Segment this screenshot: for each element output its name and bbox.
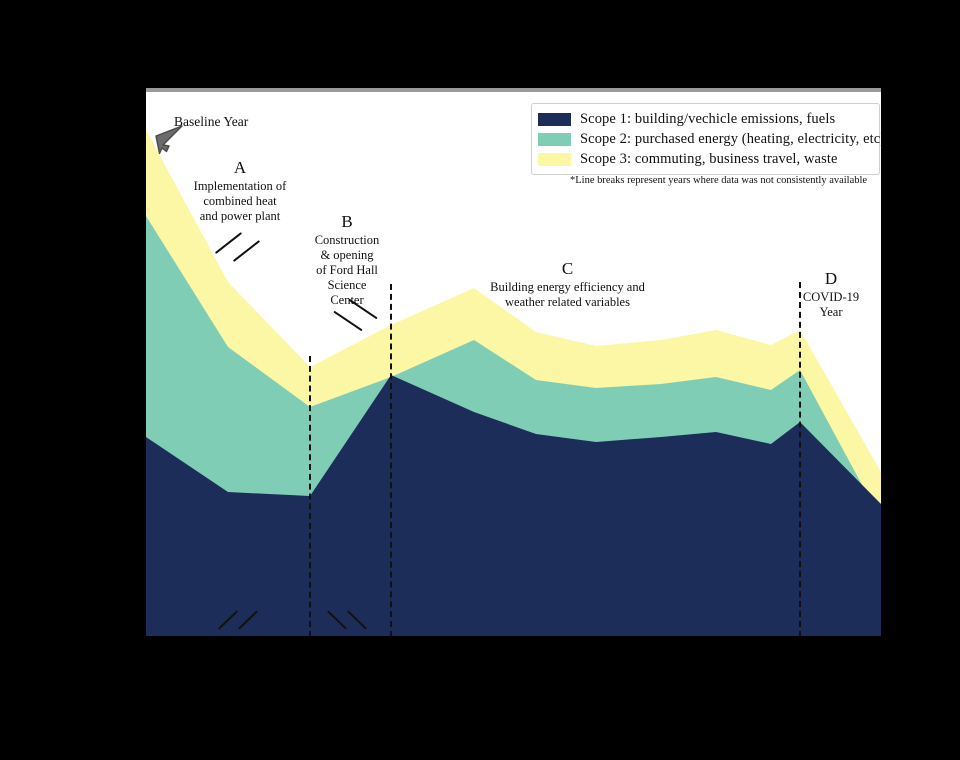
- x-axis-tick: [556, 636, 557, 644]
- chart-legend[interactable]: Scope 1: building/vechicle emissions, fu…: [531, 103, 880, 175]
- x-axis-tick: [719, 636, 720, 644]
- legend-label-scope-3: Scope 3: commuting, business travel, was…: [580, 151, 838, 168]
- event-line-a: [309, 356, 311, 637]
- annotation-c: C Building energy efficiency and weather…: [465, 259, 670, 310]
- annotation-b-text: Construction & opening of Ford Hall Scie…: [303, 233, 391, 308]
- x-axis-tick: [146, 636, 147, 644]
- x-axis-tick: [246, 636, 247, 644]
- x-axis-tick: [881, 636, 882, 644]
- legend-label-scope-2: Scope 2: purchased energy (heating, elec…: [580, 131, 885, 148]
- annotation-a: A Implementation of combined heat and po…: [176, 158, 304, 224]
- annotation-b-letter: B: [303, 212, 391, 232]
- annotation-c-text: Building energy efficiency and weather r…: [465, 280, 670, 310]
- scope-2-swatch: [538, 133, 571, 146]
- x-axis-tick: [391, 636, 392, 644]
- annotation-baseline-year-label: Baseline Year: [174, 114, 248, 130]
- x-axis-tick: [800, 636, 801, 644]
- legend-item-scope-3[interactable]: Scope 3: commuting, business travel, was…: [538, 149, 871, 169]
- legend-footnote: *Line breaks represent years where data …: [570, 174, 870, 187]
- annotation-d-letter: D: [788, 269, 874, 289]
- annotation-a-letter: A: [176, 158, 304, 178]
- annotation-b: B Construction & opening of Ford Hall Sc…: [303, 212, 391, 308]
- event-line-b: [390, 284, 392, 637]
- x-axis-tick: [310, 636, 311, 644]
- annotation-c-letter: C: [465, 259, 670, 279]
- scope-3-swatch: [538, 153, 571, 166]
- baseline-arrow-icon: [150, 124, 184, 156]
- event-line-d: [799, 282, 801, 637]
- annotation-d: D COVID-19 Year: [788, 269, 874, 320]
- x-axis-ticks: [146, 636, 883, 645]
- screenshot-canvas: Scope 1: building/vechicle emissions, fu…: [0, 0, 960, 760]
- scope-1-swatch: [538, 113, 571, 126]
- annotation-a-text: Implementation of combined heat and powe…: [176, 179, 304, 224]
- vertical-scrollbar-track[interactable]: [881, 92, 888, 637]
- x-axis-tick: [474, 636, 475, 644]
- legend-item-scope-2[interactable]: Scope 2: purchased energy (heating, elec…: [538, 129, 871, 149]
- annotation-d-text: COVID-19 Year: [788, 290, 874, 320]
- legend-item-scope-1[interactable]: Scope 1: building/vechicle emissions, fu…: [538, 109, 871, 129]
- legend-label-scope-1: Scope 1: building/vechicle emissions, fu…: [580, 111, 835, 128]
- x-axis-tick: [638, 636, 639, 644]
